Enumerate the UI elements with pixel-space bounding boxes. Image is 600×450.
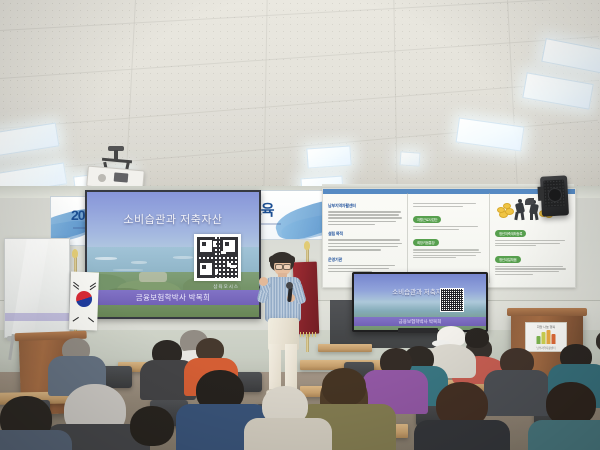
- audience-body: [484, 370, 550, 416]
- tv-stand: [398, 328, 438, 333]
- tv-monitor: 소비습관과 저축자산 금융보험학박사 박복희: [352, 272, 488, 332]
- ceiling: [0, 0, 600, 196]
- audience-head: [322, 368, 366, 406]
- audience-head: [465, 328, 489, 348]
- podium-sign-subtitle: 남부지역자활센터: [526, 346, 566, 350]
- tv-screen-content: 소비습관과 저축자산 금융보험학박사 박복희: [354, 274, 486, 330]
- presentation-slide: 소비습관과 저축자산 삼육오시스 금융보험학박사 박복희: [87, 192, 259, 317]
- poster-heading: 운영기관: [328, 257, 404, 263]
- tv-slide-footer: 금융보험학박사 박복희: [354, 317, 486, 326]
- lecture-room-photo: 202 교육 남부지역자활센터 설립 목적 운영기관: [0, 0, 600, 450]
- podium-sign: 희망 나눔 행복 남부지역자활센터: [525, 322, 567, 352]
- tv-footer-text: 금융보험학박사 박복희: [399, 319, 442, 325]
- poster-pill: 희망키움통장: [413, 239, 439, 246]
- flag-finial-icon: [72, 249, 78, 258]
- ceiling-light: [306, 145, 351, 168]
- poster-column-2: 자활근로사업단 희망키움통장: [413, 195, 485, 283]
- audience-body: [414, 420, 510, 450]
- audience-head: [130, 406, 174, 446]
- slide-footer-text: 금융보험학박사 박복희: [136, 292, 210, 303]
- poster-heading: 남부지역자활센터: [328, 203, 404, 209]
- poster-heading: 설립 목적: [328, 231, 404, 237]
- poster-pill: 청년내일채움: [495, 256, 521, 263]
- table: [318, 344, 372, 352]
- audience-body: [528, 420, 600, 450]
- podium-sign-title: 희망 나눔 행복: [526, 325, 566, 329]
- projection-screen: 소비습관과 저축자산 삼육오시스 금융보험학박사 박복희: [85, 190, 261, 319]
- qr-code-icon: [194, 234, 241, 281]
- podium-sign-chart: [537, 330, 556, 344]
- slide-title: 소비습관과 저축자산: [87, 211, 259, 227]
- tv-qr-code-icon: [440, 288, 464, 312]
- poster-pill: 자활근로사업단: [413, 216, 441, 223]
- ceiling-projector: [84, 146, 146, 190]
- presenter-hand-raised: [259, 277, 268, 286]
- whiteboard: [4, 238, 70, 338]
- poster-column-1: 남부지역자활센터 설립 목적 운영기관: [328, 195, 404, 283]
- audience-body: [244, 418, 332, 450]
- flag-finial-icon: [304, 241, 310, 250]
- korean-flag-icon: [69, 272, 99, 331]
- ceiling-light: [400, 151, 421, 166]
- slide-footer-banner: 금융보험학박사 박복희: [87, 290, 259, 305]
- poster-pill: 청년저축계좌등록: [495, 230, 526, 237]
- wall-speaker-icon: [540, 175, 569, 216]
- tv-slide-title: 소비습관과 저축자산: [354, 286, 486, 296]
- audience-body: [0, 430, 72, 450]
